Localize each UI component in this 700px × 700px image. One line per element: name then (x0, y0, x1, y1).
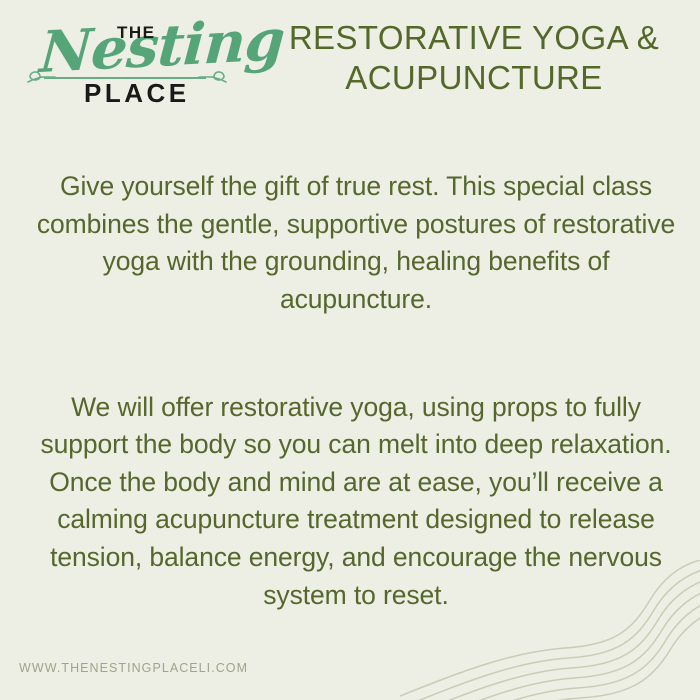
brand-logo: Nesting THE PLACE (22, 8, 227, 106)
footer-website-url: WWW.THENESTINGPLACELI.COM (19, 661, 248, 675)
paragraph-intro: Give yourself the gift of true rest. Thi… (26, 168, 686, 319)
logo-place-word: PLACE (84, 80, 190, 106)
leaf-flourish-right-icon (198, 64, 228, 90)
paragraph-spacer (26, 319, 686, 389)
page-title: RESTORATIVE YOGA & ACUPUNCTURE (262, 18, 686, 99)
paragraph-details: We will offer restorative yoga, using pr… (26, 389, 686, 615)
leaf-flourish-left-icon (26, 64, 56, 90)
poster-canvas: Nesting THE PLACE RESTORATIVE YOGA & ACU… (0, 0, 700, 700)
logo-the-word: THE (117, 24, 156, 41)
body-copy: Give yourself the gift of true rest. Thi… (26, 168, 686, 614)
